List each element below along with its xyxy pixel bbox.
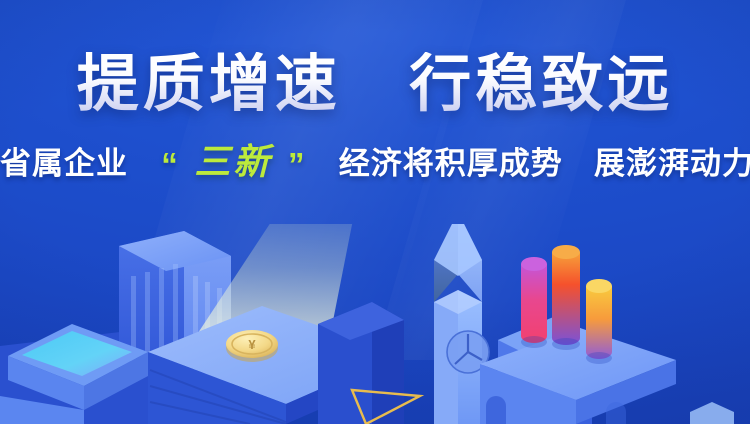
subtitle-highlight: 三新 [190, 141, 276, 183]
illustration-svg: ¥ [0, 224, 750, 424]
city-illustration: ¥ [0, 224, 750, 424]
bar-cylinder-3 [586, 279, 612, 364]
svg-text:¥: ¥ [248, 337, 256, 352]
bar-cylinder-1 [521, 257, 547, 348]
page-subtitle: 省属企业 “ 三新 ” 经济将积厚成势 展澎湃动力 [0, 133, 750, 185]
subtitle-tail: 展澎湃动力 [594, 146, 750, 181]
far-right-block [690, 402, 734, 424]
quote-close-mark: ” [286, 146, 308, 183]
title-part-two: 行稳致远 [409, 50, 673, 119]
title-part-one: 提质增速 [77, 50, 341, 119]
bar-cylinder-2 [552, 245, 580, 350]
subtitle-lead: 省属企业 [0, 146, 128, 181]
subtitle-middle: 经济将积厚成势 [339, 146, 563, 181]
quote-open-mark: “ [159, 146, 181, 183]
headline-block: 提质增速 行稳致远 省属企业 “ 三新 ” 经济将积厚成势 展澎湃动力 [0, 52, 750, 185]
gold-coin: ¥ [226, 330, 278, 362]
page-title: 提质增速 行稳致远 [0, 52, 750, 119]
promo-banner: 提质增速 行稳致远 省属企业 “ 三新 ” 经济将积厚成势 展澎湃动力 [0, 0, 750, 424]
